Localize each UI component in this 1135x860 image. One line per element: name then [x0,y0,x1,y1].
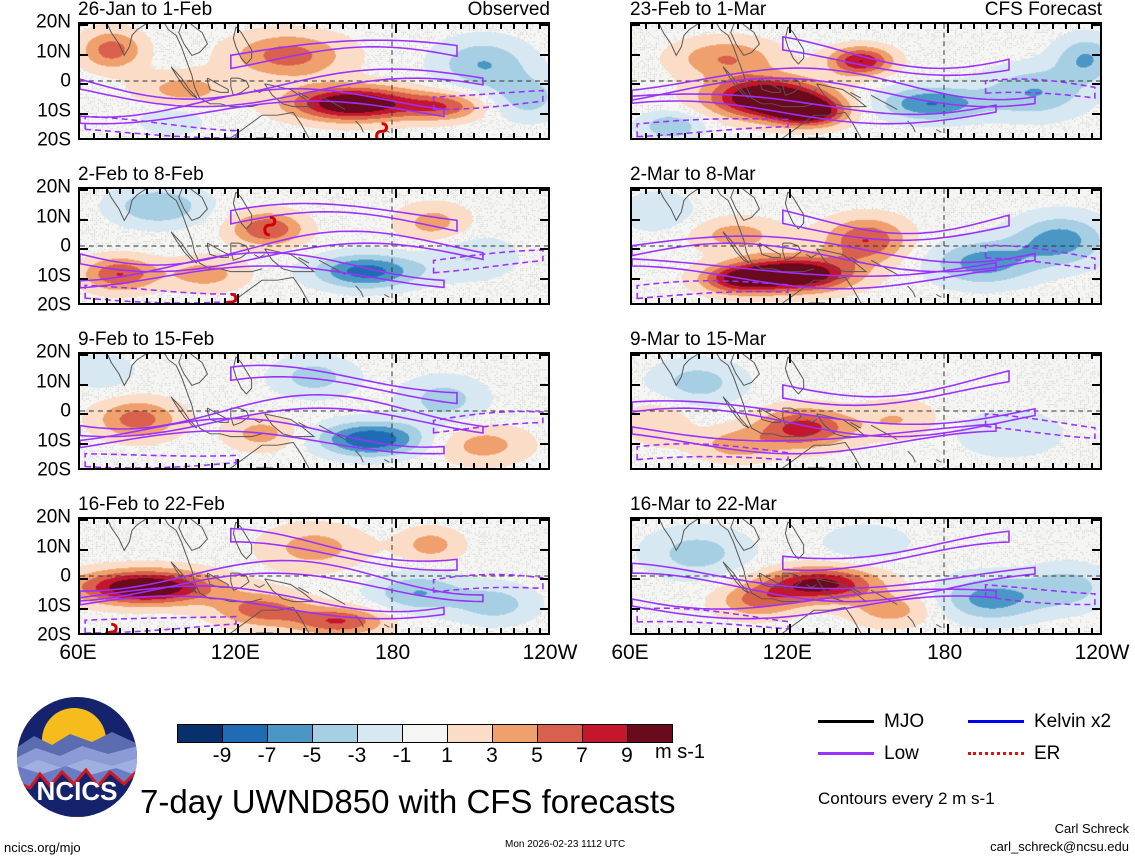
axis-tick [80,549,88,551]
axis-tick [1092,83,1100,85]
axis-tick [500,628,502,633]
axis-tick [789,189,791,198]
axis-tick [211,519,213,524]
axis-tick [1012,628,1014,633]
axis-tick [316,519,318,524]
axis-tick [986,189,988,194]
axis-tick [460,628,462,633]
axis-tick [816,133,818,138]
axis-tick [986,519,988,524]
axis-tick [382,628,384,633]
map-plot-area [630,517,1102,635]
map-overlay [80,354,548,468]
er-line-icon [968,752,1024,755]
axis-tick [645,133,647,138]
axis-tick [1092,113,1100,115]
axis-tick [1038,133,1040,138]
map-overlay [632,189,1100,303]
kelvin-line-icon [968,720,1024,723]
axis-tick [198,298,200,303]
axis-tick [540,219,548,221]
axis-tick [816,463,818,468]
contour-interval-note: Contours every 2 m s-1 [818,790,995,807]
axis-tick [999,519,1001,524]
axis-tick [881,463,883,468]
axis-tick [1052,189,1054,194]
axis-tick [473,24,475,29]
y-axis-tick-label: 10N [36,372,71,391]
axis-tick [106,298,108,303]
axis-tick [277,189,279,194]
axis-tick [855,298,857,303]
axis-tick [473,354,475,359]
axis-tick [645,354,647,359]
axis-tick [237,24,239,33]
y-axis-tick-label: 20N [36,508,71,527]
y-axis-tick-label: 0 [60,237,71,256]
axis-tick [159,354,161,359]
axis-tick [1038,298,1040,303]
y-axis-tick-label: 0 [60,72,71,91]
axis-tick [711,628,713,633]
axis-tick [329,24,331,29]
axis-tick [1025,354,1027,359]
axis-tick [868,628,870,633]
axis-tick [198,519,200,524]
axis-tick [526,189,528,194]
axis-tick [540,354,548,356]
axis-tick [526,133,528,138]
axis-tick [684,189,686,194]
axis-tick [540,549,548,551]
site-url-label: ncics.org/mjo [4,841,81,854]
axis-tick [920,298,922,303]
legend-item-er: ER [968,744,1118,763]
axis-tick [1092,24,1100,26]
axis-tick [513,354,515,359]
axis-tick [658,298,660,303]
axis-tick [802,354,804,359]
y-axis-tick-label: 20N [36,343,71,362]
axis-tick [632,219,640,221]
map-plot-area [78,22,550,140]
axis-tick [1092,443,1100,445]
colorbar-tick-label: 3 [486,745,498,766]
axis-tick [146,298,148,303]
axis-tick [973,133,975,138]
axis-tick [789,519,791,528]
axis-tick [185,519,187,524]
axis-tick [934,519,936,524]
mjo-line-icon [818,720,874,723]
axis-tick [264,298,266,303]
axis-tick [159,463,161,468]
axis-tick [224,463,226,468]
axis-tick [920,519,922,524]
axis-tick [277,24,279,29]
colorbar-tick-label: -1 [393,745,412,766]
axis-tick [447,298,449,303]
axis-tick [421,463,423,468]
axis-tick [146,354,148,359]
map-plot-area [78,517,550,635]
axis-tick [1078,354,1080,359]
axis-tick [264,133,266,138]
axis-tick [93,463,95,468]
axis-tick [316,298,318,303]
axis-tick [829,463,831,468]
axis-tick [539,133,541,138]
axis-tick [382,298,384,303]
axis-tick [658,133,660,138]
axis-tick [342,519,344,524]
axis-tick [1065,133,1067,138]
axis-tick [802,463,804,468]
axis-tick [907,189,909,194]
axis-tick [999,24,1001,29]
axis-tick [960,354,962,359]
contour-legend: MJO Kelvin x2 Low ER [818,712,1118,776]
axis-tick [540,54,548,56]
axis-tick [395,294,397,303]
colorbar-tick-label: 1 [441,745,453,766]
axis-tick [1052,133,1054,138]
x-axis-tick-label: 120W [1075,642,1130,663]
axis-tick [973,189,975,194]
axis-tick [500,189,502,194]
axis-tick [500,463,502,468]
axis-tick [172,628,174,633]
axis-tick [907,463,909,468]
axis-tick [855,189,857,194]
axis-tick [920,189,922,194]
axis-tick [632,578,640,580]
axis-tick [671,519,673,524]
axis-tick [119,189,121,194]
axis-tick [198,354,200,359]
axis-tick [93,133,95,138]
colorbar-swatch [492,725,537,742]
axis-tick [671,298,673,303]
axis-tick [368,133,370,138]
axis-tick [539,463,541,468]
axis-tick [907,133,909,138]
axis-tick [211,354,213,359]
axis-tick [724,519,726,524]
axis-tick [907,628,909,633]
axis-tick [868,189,870,194]
axis-tick [500,24,502,29]
axis-tick [934,189,936,194]
axis-tick [671,189,673,194]
low-frequency-contours [632,371,1095,460]
axis-tick [842,463,844,468]
panel-title: 16-Feb to 22-Feb [78,495,225,514]
axis-tick [355,519,357,524]
axis-tick [421,298,423,303]
axis-tick [724,133,726,138]
colorbar-swatch [402,725,447,742]
axis-tick [802,519,804,524]
axis-tick [408,189,410,194]
axis-tick [119,628,121,633]
axis-tick [1065,354,1067,359]
map-panel-right-3: 9-Mar to 15-Mar [630,352,1102,470]
axis-tick [80,83,88,85]
axis-tick [486,24,488,29]
axis-tick [264,628,266,633]
axis-tick [999,463,1001,468]
axis-tick [172,24,174,29]
axis-tick [737,519,739,524]
axis-tick [146,133,148,138]
axis-tick [80,189,88,191]
axis-tick [486,628,488,633]
axis-tick [342,628,344,633]
panel-title: 16-Mar to 22-Mar [630,495,777,514]
axis-tick [1025,189,1027,194]
axis-tick [159,133,161,138]
axis-tick [632,413,640,415]
axis-tick [80,278,88,280]
axis-tick [185,189,187,194]
axis-tick [920,463,922,468]
axis-tick [973,463,975,468]
axis-tick [486,519,488,524]
axis-tick [947,459,949,468]
axis-tick [93,298,95,303]
axis-tick [237,189,239,198]
axis-tick [250,354,252,359]
axis-tick [290,463,292,468]
y-axis-tick-label: 20N [36,13,71,32]
axis-tick [671,463,673,468]
axis-tick [224,628,226,633]
axis-tick [973,519,975,524]
y-axis-tick-label: 0 [60,567,71,586]
axis-tick [816,298,818,303]
axis-tick [473,189,475,194]
axis-tick [277,354,279,359]
axis-tick [763,189,765,194]
axis-tick [80,578,88,580]
axis-tick [80,24,88,26]
axis-tick [1065,298,1067,303]
axis-tick [698,354,700,359]
axis-tick [868,298,870,303]
axis-tick [855,354,857,359]
axis-tick [303,24,305,29]
map-plot-area [630,22,1102,140]
axis-tick [211,298,213,303]
axis-tick [421,189,423,194]
axis-tick [1025,24,1027,29]
map-overlay [632,354,1100,468]
x-axis-tick-label: 120E [763,642,812,663]
axis-tick [1012,354,1014,359]
map-panel-right-4: 16-Mar to 22-Mar60E120E180120W [630,517,1102,635]
axis-tick [1091,298,1093,303]
axis-tick [868,519,870,524]
axis-tick [684,24,686,29]
axis-tick [486,189,488,194]
axis-tick [1038,519,1040,524]
colorbar-tick-label: 9 [621,745,633,766]
axis-tick [106,189,108,194]
y-axis-tick-label: 10S [37,266,71,285]
axis-tick [698,519,700,524]
low-frequency-contours [80,529,543,633]
axis-tick [842,298,844,303]
axis-tick [264,519,266,524]
panel-corner-label-forecast: CFS Forecast [985,0,1102,19]
axis-tick [316,189,318,194]
axis-tick [146,189,148,194]
axis-tick [146,463,148,468]
axis-tick [460,354,462,359]
axis-tick [277,133,279,138]
axis-tick [395,24,397,33]
axis-tick [645,189,647,194]
axis-tick [237,294,239,303]
axis-tick [711,463,713,468]
axis-tick [1065,463,1067,468]
axis-tick [540,248,548,250]
axis-tick [1052,354,1054,359]
y-axis-tick-label: 20N [36,178,71,197]
axis-tick [750,628,752,633]
axis-tick [737,298,739,303]
low-frequency-contours [632,531,1095,629]
panel-title: 9-Feb to 15-Feb [78,330,214,349]
axis-tick [132,354,134,359]
axis-tick [198,24,200,29]
axis-tick [1052,519,1054,524]
axis-tick [447,519,449,524]
axis-tick [540,24,548,26]
axis-tick [1065,519,1067,524]
axis-tick [395,354,397,363]
axis-tick [264,354,266,359]
axis-tick [486,354,488,359]
axis-tick [368,519,370,524]
low-frequency-contours [80,203,543,303]
colorbar-swatch [222,725,267,742]
axis-tick [368,463,370,468]
map-panel-right-2: 2-Mar to 8-Mar [630,187,1102,305]
axis-tick [159,189,161,194]
x-axis-tick-label: 120E [211,642,260,663]
axis-tick [473,133,475,138]
axis-tick [1092,219,1100,221]
axis-tick [540,278,548,280]
axis-tick [986,133,988,138]
axis-tick [486,463,488,468]
axis-tick [789,24,791,33]
axis-tick [434,133,436,138]
axis-tick [250,463,252,468]
axis-tick [684,463,686,468]
axis-tick [711,133,713,138]
axis-tick [698,189,700,194]
axis-tick [211,189,213,194]
axis-tick [80,384,88,386]
axis-tick [829,354,831,359]
axis-tick [132,24,134,29]
axis-tick [1038,189,1040,194]
axis-tick [486,133,488,138]
map-overlay [80,519,548,633]
axis-tick [711,354,713,359]
axis-tick [973,24,975,29]
axis-tick [855,133,857,138]
axis-tick [973,354,975,359]
axis-tick [1078,133,1080,138]
axis-tick [224,298,226,303]
axis-tick [434,354,436,359]
axis-tick [342,298,344,303]
axis-tick [684,354,686,359]
axis-tick [539,298,541,303]
axis-tick [1091,628,1093,633]
axis-tick [855,628,857,633]
legend-item-low: Low [818,744,968,763]
axis-tick [460,463,462,468]
axis-tick [934,24,936,29]
axis-tick [960,133,962,138]
axis-tick [711,24,713,29]
axis-tick [999,298,1001,303]
map-panel-left-3: 9-Feb to 15-Feb20N10N010S20S [78,352,550,470]
axis-tick [198,463,200,468]
axis-tick [434,519,436,524]
axis-tick [540,413,548,415]
axis-tick [368,24,370,29]
axis-tick [881,24,883,29]
axis-tick [106,24,108,29]
axis-tick [671,628,673,633]
axis-tick [316,628,318,633]
axis-tick [395,519,397,528]
axis-tick [473,519,475,524]
colorbar-swatch [447,725,492,742]
axis-tick [106,463,108,468]
axis-tick [329,463,331,468]
axis-tick [789,354,791,363]
axis-tick [632,608,640,610]
axis-tick [159,24,161,29]
axis-tick [907,298,909,303]
axis-tick [290,24,292,29]
axis-tick [999,628,1001,633]
axis-tick [264,463,266,468]
axis-tick [526,463,528,468]
axis-tick [1091,463,1093,468]
y-axis-tick-label: 20S [37,296,71,315]
axis-tick [881,519,883,524]
axis-tick [447,463,449,468]
axis-tick [237,519,239,528]
axis-tick [119,133,121,138]
axis-tick [80,219,88,221]
axis-tick [776,298,778,303]
axis-tick [763,628,765,633]
axis-tick [842,189,844,194]
axis-tick [342,133,344,138]
axis-tick [159,519,161,524]
axis-tick [146,24,148,29]
page-title: 7-day UWND850 with CFS forecasts [140,785,676,818]
